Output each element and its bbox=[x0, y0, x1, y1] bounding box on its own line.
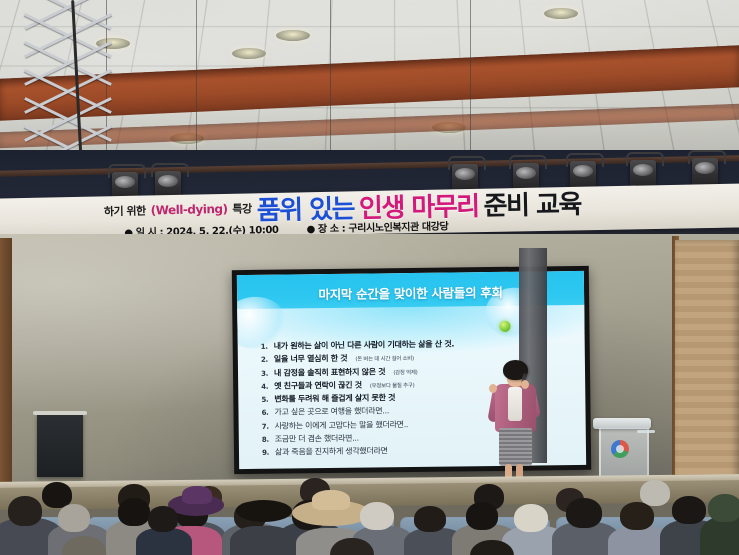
slide-item-text: 내가 원하는 삶이 아닌 다른 사람이 기대하는 삶을 산 것. bbox=[274, 340, 455, 351]
audience-hat-crown bbox=[182, 486, 212, 504]
audience-hat bbox=[236, 500, 292, 522]
audience-head bbox=[58, 504, 90, 532]
slide-item-text: 일을 너무 열심히 한 것 bbox=[274, 355, 348, 365]
presenter-left-hand bbox=[489, 384, 497, 393]
ceiling-downlight bbox=[276, 30, 310, 41]
audience-head bbox=[148, 506, 178, 532]
banner-welldying-text: (Well-dying) bbox=[151, 202, 228, 218]
audience-head bbox=[360, 502, 394, 530]
slide-item-text: 조금만 더 겸손 했더라면... bbox=[275, 435, 359, 445]
audience-head bbox=[640, 480, 670, 506]
slide-item-number: 2. bbox=[258, 357, 268, 365]
slide-item-number: 5. bbox=[258, 397, 268, 405]
left-wood-trim bbox=[0, 238, 12, 488]
slide-item-number: 6. bbox=[258, 410, 268, 418]
podium-top bbox=[593, 418, 651, 429]
slide-item-note: (감정 억제) bbox=[393, 370, 417, 376]
slide-item-number: 8. bbox=[259, 437, 269, 445]
slide-item-number: 1. bbox=[258, 344, 268, 352]
right-wood-panel bbox=[675, 240, 739, 490]
ceiling-downlight bbox=[544, 8, 578, 19]
banner-lecture-label: 특강 bbox=[232, 200, 252, 216]
slide-item-text: 가고 싶은 곳으로 여행을 했더라면... bbox=[274, 408, 389, 418]
audience-head bbox=[672, 496, 706, 524]
slide-item-text: 삶과 죽음을 진지하게 생각했더라면 bbox=[275, 448, 388, 458]
audience-shoulders bbox=[136, 528, 192, 555]
audience-head bbox=[566, 498, 602, 528]
audience-head bbox=[620, 502, 654, 530]
audience-head bbox=[8, 496, 42, 526]
slide-green-dot-icon bbox=[499, 321, 510, 332]
slide-item-note: (돈 버는 데 시간 걸어 소비) bbox=[355, 356, 414, 363]
easel-board bbox=[37, 413, 83, 477]
audience-head bbox=[708, 494, 739, 522]
podium-side-bar bbox=[637, 430, 655, 433]
banner-prefix-text: 하기 위한 bbox=[104, 203, 146, 220]
hanging-wire bbox=[330, 0, 331, 165]
slide-item-number: 4. bbox=[258, 384, 268, 392]
presenter-skirt bbox=[499, 428, 532, 466]
audience-head bbox=[514, 504, 548, 532]
slide-item-note: (우정보다 물질 추구) bbox=[370, 383, 415, 390]
ceiling-downlight bbox=[232, 48, 266, 59]
slide-item-number: 9. bbox=[259, 450, 269, 458]
slide-item-text: 내 감정을 솔직히 표현하지 않은 것 bbox=[274, 368, 385, 378]
banner-place-separator: : bbox=[342, 223, 346, 234]
lecture-hall-photo: 하기 위한 (Well-dying) 특강 품위 있는 인생 마무리 준비 교육… bbox=[0, 0, 739, 555]
podium-emblem-icon bbox=[611, 440, 629, 458]
slide-item-text: 사랑하는 이에게 고맙다는 말을 했더라면.. bbox=[275, 421, 409, 431]
banner-place-label: 장 소 bbox=[318, 223, 339, 234]
presenter-shirt bbox=[508, 387, 522, 421]
slide-item-text: 옛 친구들과 연락이 끊긴 것 bbox=[274, 381, 362, 391]
audience-area bbox=[0, 470, 739, 555]
presenter-right-hand bbox=[521, 380, 529, 389]
slide-item-number: 7. bbox=[259, 424, 269, 432]
slide-item-text: 변화를 두려워 해 즐겁게 살지 못한 것 bbox=[274, 394, 395, 404]
audience-shoulders bbox=[230, 526, 296, 555]
audience-head bbox=[118, 498, 150, 526]
slide-item-number: 3. bbox=[258, 370, 268, 378]
audience-head bbox=[466, 502, 498, 530]
audience-head bbox=[414, 506, 446, 532]
hanging-wire bbox=[470, 0, 471, 155]
audience-straw-hat-crown bbox=[312, 490, 350, 510]
slide-list-item: 1. 내가 원하는 삶이 아닌 다른 사람이 기대하는 삶을 산 것. bbox=[258, 339, 558, 351]
